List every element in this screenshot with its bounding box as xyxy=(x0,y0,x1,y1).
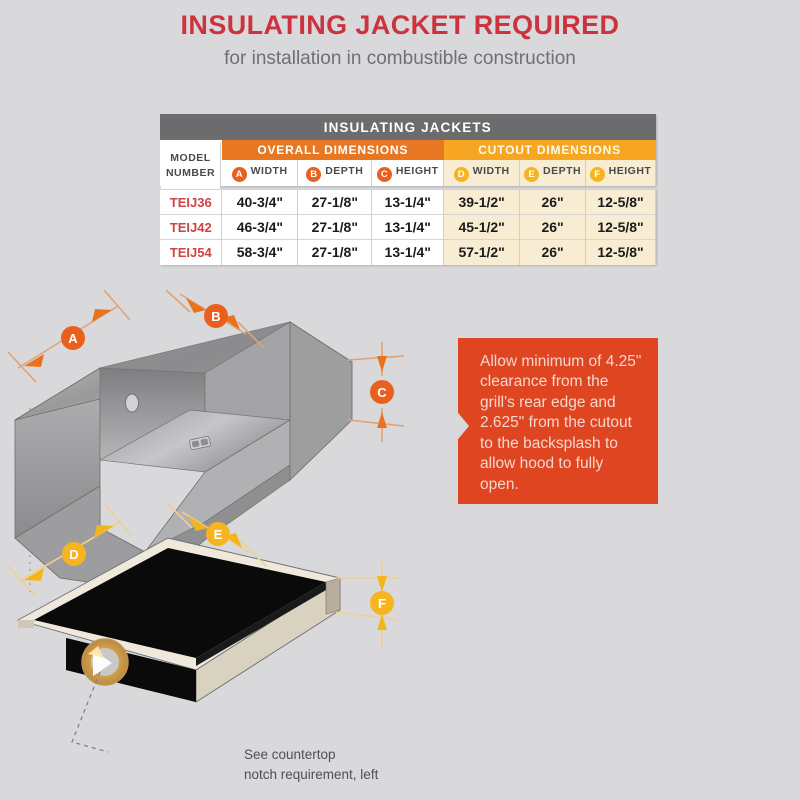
cell-d: 57-1/2" xyxy=(444,240,520,265)
badge-e-icon: E xyxy=(524,167,539,182)
cell-b: 27-1/8" xyxy=(298,240,372,265)
badge-c-diagram-label: C xyxy=(377,385,387,400)
cell-c: 13-1/4" xyxy=(372,190,444,215)
page-subtitle: for installation in combustible construc… xyxy=(0,48,800,70)
cell-f: 12-5/8" xyxy=(586,190,656,215)
group-header-cutout: CUTOUT DIMENSIONS xyxy=(444,140,656,160)
cell-c: 13-1/4" xyxy=(372,215,444,240)
table-band-title: INSULATING JACKETS xyxy=(160,114,656,140)
badge-e-diagram-label: E xyxy=(214,527,223,542)
cell-model: TEIJ36 xyxy=(160,190,222,215)
model-number-header-line2: NUMBER xyxy=(166,166,215,181)
badge-d-diagram-label: D xyxy=(69,547,78,562)
countertop-notch-note-line1: See countertop xyxy=(244,745,378,765)
countertop-notch-note: See countertop notch requirement, left xyxy=(244,745,378,786)
countertop-notch-note-line2: notch requirement, left xyxy=(244,765,378,785)
cell-b: 27-1/8" xyxy=(298,190,372,215)
cell-b: 27-1/8" xyxy=(298,215,372,240)
badge-d-icon: D xyxy=(454,167,469,182)
cell-model: TEIJ42 xyxy=(160,215,222,240)
insulating-jackets-table: INSULATING JACKETS OVERALL DIMENSIONS CU… xyxy=(160,114,656,186)
cell-f: 12-5/8" xyxy=(586,240,656,265)
badge-f-diagram-label: F xyxy=(378,596,386,611)
cell-d: 39-1/2" xyxy=(444,190,520,215)
column-label-e: DEPTH xyxy=(543,165,581,177)
cell-a: 58-3/4" xyxy=(222,240,298,265)
group-header-overall: OVERALL DIMENSIONS xyxy=(222,140,444,160)
column-label-c: HEIGHT xyxy=(396,165,439,177)
cell-d: 45-1/2" xyxy=(444,215,520,240)
model-number-header-line1: MODEL xyxy=(170,151,210,166)
cell-e: 26" xyxy=(520,215,586,240)
cell-c: 13-1/4" xyxy=(372,240,444,265)
badge-c-icon: C xyxy=(377,167,392,182)
column-label-b: DEPTH xyxy=(325,165,363,177)
dimension-diagram: A B C xyxy=(0,290,460,800)
table-band-row: INSULATING JACKETS xyxy=(160,114,656,140)
model-number-header: MODEL NUMBER xyxy=(161,143,221,189)
column-label-f: HEIGHT xyxy=(609,165,652,177)
table-row: TEIJ36 40-3/4" 27-1/8" 13-1/4" 39-1/2" 2… xyxy=(160,190,656,215)
cell-f: 12-5/8" xyxy=(586,215,656,240)
column-label-d: WIDTH xyxy=(473,165,510,177)
cell-model: TEIJ54 xyxy=(160,240,222,265)
cell-e: 26" xyxy=(520,240,586,265)
badge-b-diagram-label: B xyxy=(211,309,220,324)
page-title: INSULATING JACKET REQUIRED xyxy=(0,10,800,41)
table-row: TEIJ42 46-3/4" 27-1/8" 13-1/4" 45-1/2" 2… xyxy=(160,215,656,240)
cell-a: 40-3/4" xyxy=(222,190,298,215)
table-group-row: OVERALL DIMENSIONS CUTOUT DIMENSIONS xyxy=(160,140,656,160)
mounting-hole-icon xyxy=(126,394,139,412)
cell-e: 26" xyxy=(520,190,586,215)
badge-b-icon: B xyxy=(306,167,321,182)
table-label-row: AWIDTH BDEPTH CHEIGHT DWIDTH EDEPTH FHEI… xyxy=(160,160,656,186)
notch-detail-group xyxy=(82,639,128,685)
column-label-a: WIDTH xyxy=(251,165,288,177)
badge-a-diagram-label: A xyxy=(68,331,78,346)
badge-a-icon: A xyxy=(232,167,247,182)
cell-a: 46-3/4" xyxy=(222,215,298,240)
spec-data-rows: TEIJ36 40-3/4" 27-1/8" 13-1/4" 39-1/2" 2… xyxy=(160,189,656,265)
table-row: TEIJ54 58-3/4" 27-1/8" 13-1/4" 57-1/2" 2… xyxy=(160,240,656,265)
clearance-callout: Allow minimum of 4.25" clearance from th… xyxy=(458,338,658,504)
badge-f-icon: F xyxy=(590,167,605,182)
